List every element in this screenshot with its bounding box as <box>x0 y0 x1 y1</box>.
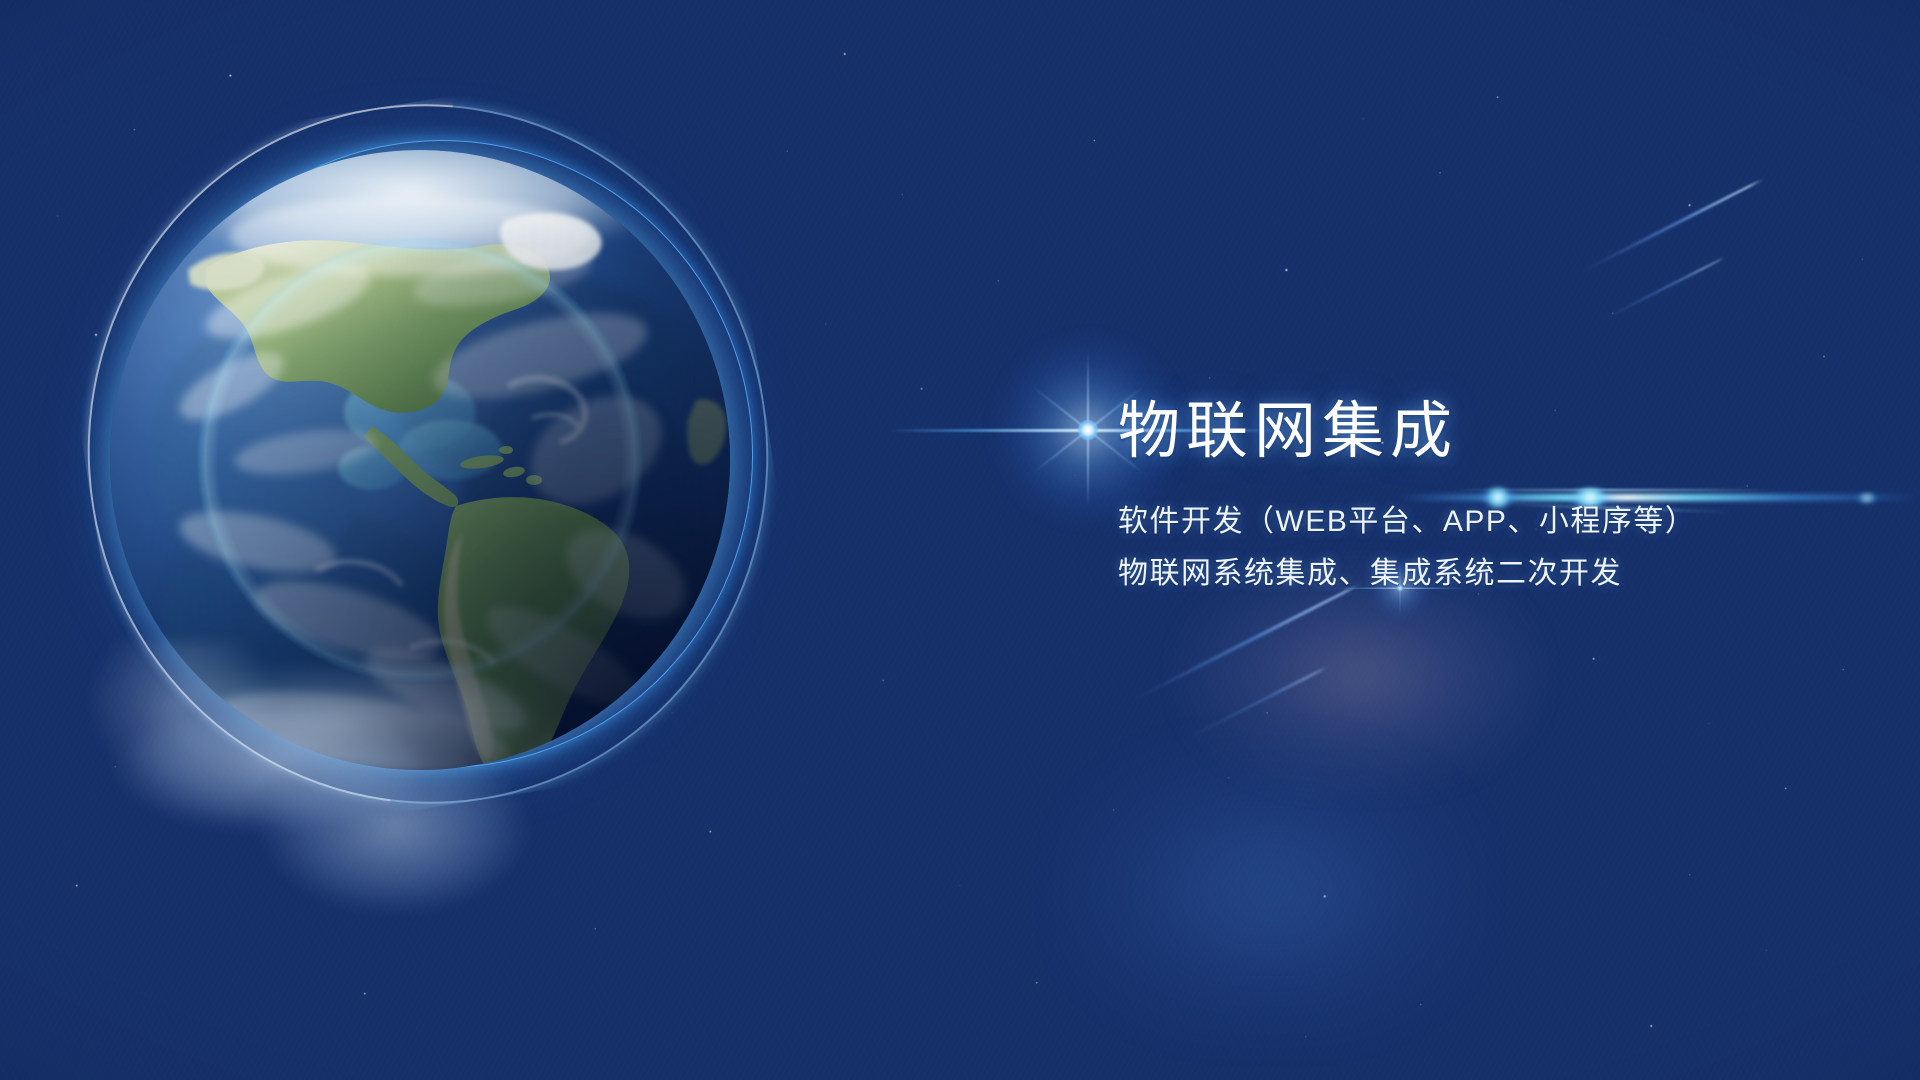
comet-streak-upper-a <box>1577 177 1765 275</box>
banner-subtitle-group: 软件开发（WEB平台、APP、小程序等） 物联网系统集成、集成系统二次开发 <box>1118 496 1878 600</box>
earth-globe <box>110 150 730 770</box>
banner-headline: 物联网集成 <box>1118 398 1878 466</box>
hero-banner: 物联网集成 软件开发（WEB平台、APP、小程序等） 物联网系统集成、集成系统二… <box>0 0 1920 1080</box>
comet-streak-lower-b <box>1185 665 1329 740</box>
comet-streak-upper-b <box>1600 257 1726 322</box>
comet-streak-lower-a <box>1129 582 1362 703</box>
banner-copy: 物联网集成 软件开发（WEB平台、APP、小程序等） 物联网系统集成、集成系统二… <box>1118 398 1878 600</box>
globe-sphere <box>110 150 730 770</box>
flare-ray-vertical <box>1087 352 1089 508</box>
banner-subtitle-line-1: 软件开发（WEB平台、APP、小程序等） <box>1118 496 1878 548</box>
cool-light-bloom <box>1060 740 1480 1040</box>
banner-subtitle-line-2: 物联网系统集成、集成系统二次开发 <box>1118 548 1878 600</box>
flare-core <box>1078 420 1098 440</box>
